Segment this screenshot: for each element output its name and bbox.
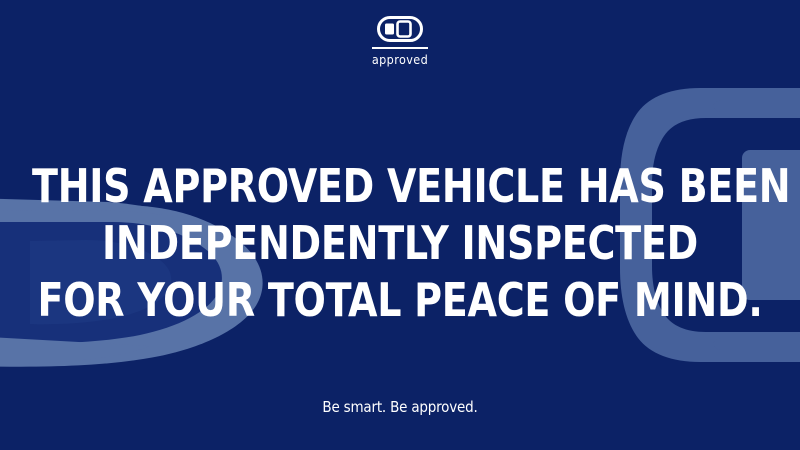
tagline: Be smart. Be approved. (0, 398, 800, 416)
slide-canvas: approved THIS APPROVED VEHICLE HAS BEEN … (0, 0, 800, 450)
headline-line-1: THIS APPROVED VEHICLE HAS BEEN (32, 158, 768, 215)
brand-divider (372, 47, 428, 49)
headline: THIS APPROVED VEHICLE HAS BEEN INDEPENDE… (0, 158, 800, 329)
car-top-view-icon (377, 16, 423, 42)
headline-line-2: INDEPENDENTLY INSPECTED (32, 215, 768, 272)
brand-lockup: approved (0, 16, 800, 67)
headline-line-3: FOR YOUR TOTAL PEACE OF MIND. (32, 272, 768, 329)
brand-wordmark: approved (372, 52, 428, 67)
